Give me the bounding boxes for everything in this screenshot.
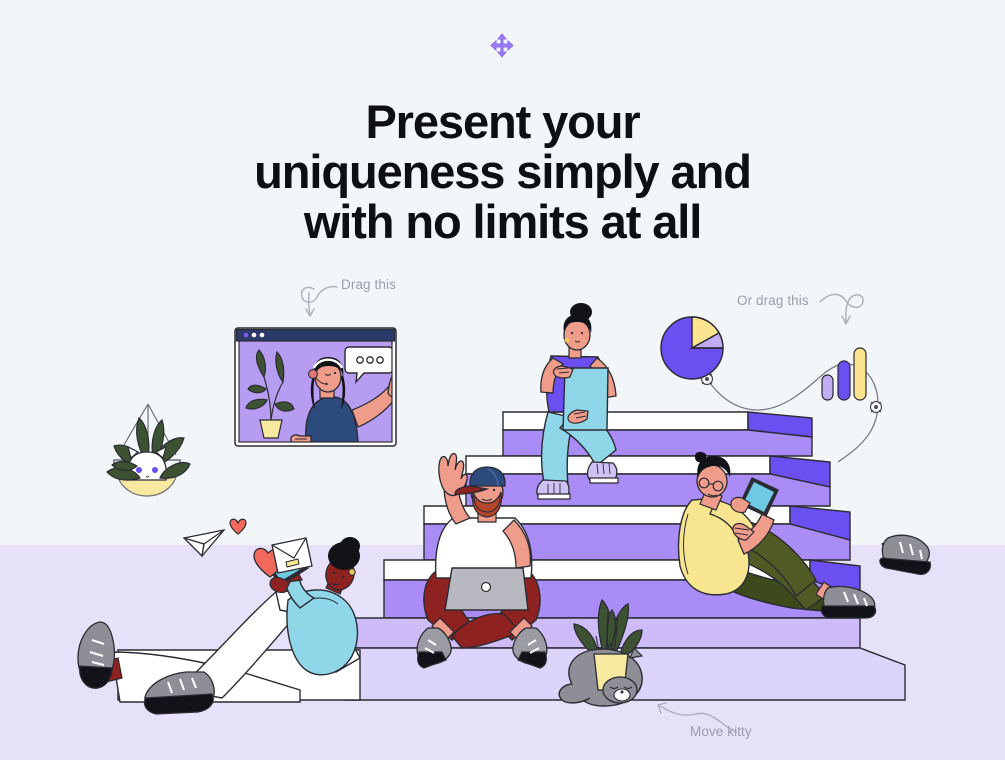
drag-this-label: Drag this [341, 277, 396, 292]
video-call-window[interactable] [235, 328, 413, 446]
move-kitty-label: Move kitty [690, 724, 752, 739]
pie-chart[interactable] [661, 317, 723, 379]
person-phone-reclining[interactable] [78, 537, 360, 714]
window-dot-purple [244, 333, 249, 338]
or-drag-this-label: Or drag this [737, 293, 809, 308]
page-title: Present your uniqueness simply and with … [0, 97, 1005, 247]
drag-this-arrow-icon [296, 275, 342, 319]
paper-plane-icon [184, 530, 224, 556]
or-drag-this-arrow-icon [818, 288, 874, 330]
move-cross-icon[interactable] [487, 31, 517, 61]
hanging-plant-kitty[interactable] [107, 404, 190, 496]
window-dot-white [260, 333, 265, 338]
heart-icon [230, 519, 246, 534]
bar-chart[interactable] [822, 348, 866, 400]
window-dot-white [252, 333, 257, 338]
connector-anchor[interactable] [871, 402, 882, 413]
illustration-stage: Present your uniqueness simply and with … [0, 0, 1005, 760]
